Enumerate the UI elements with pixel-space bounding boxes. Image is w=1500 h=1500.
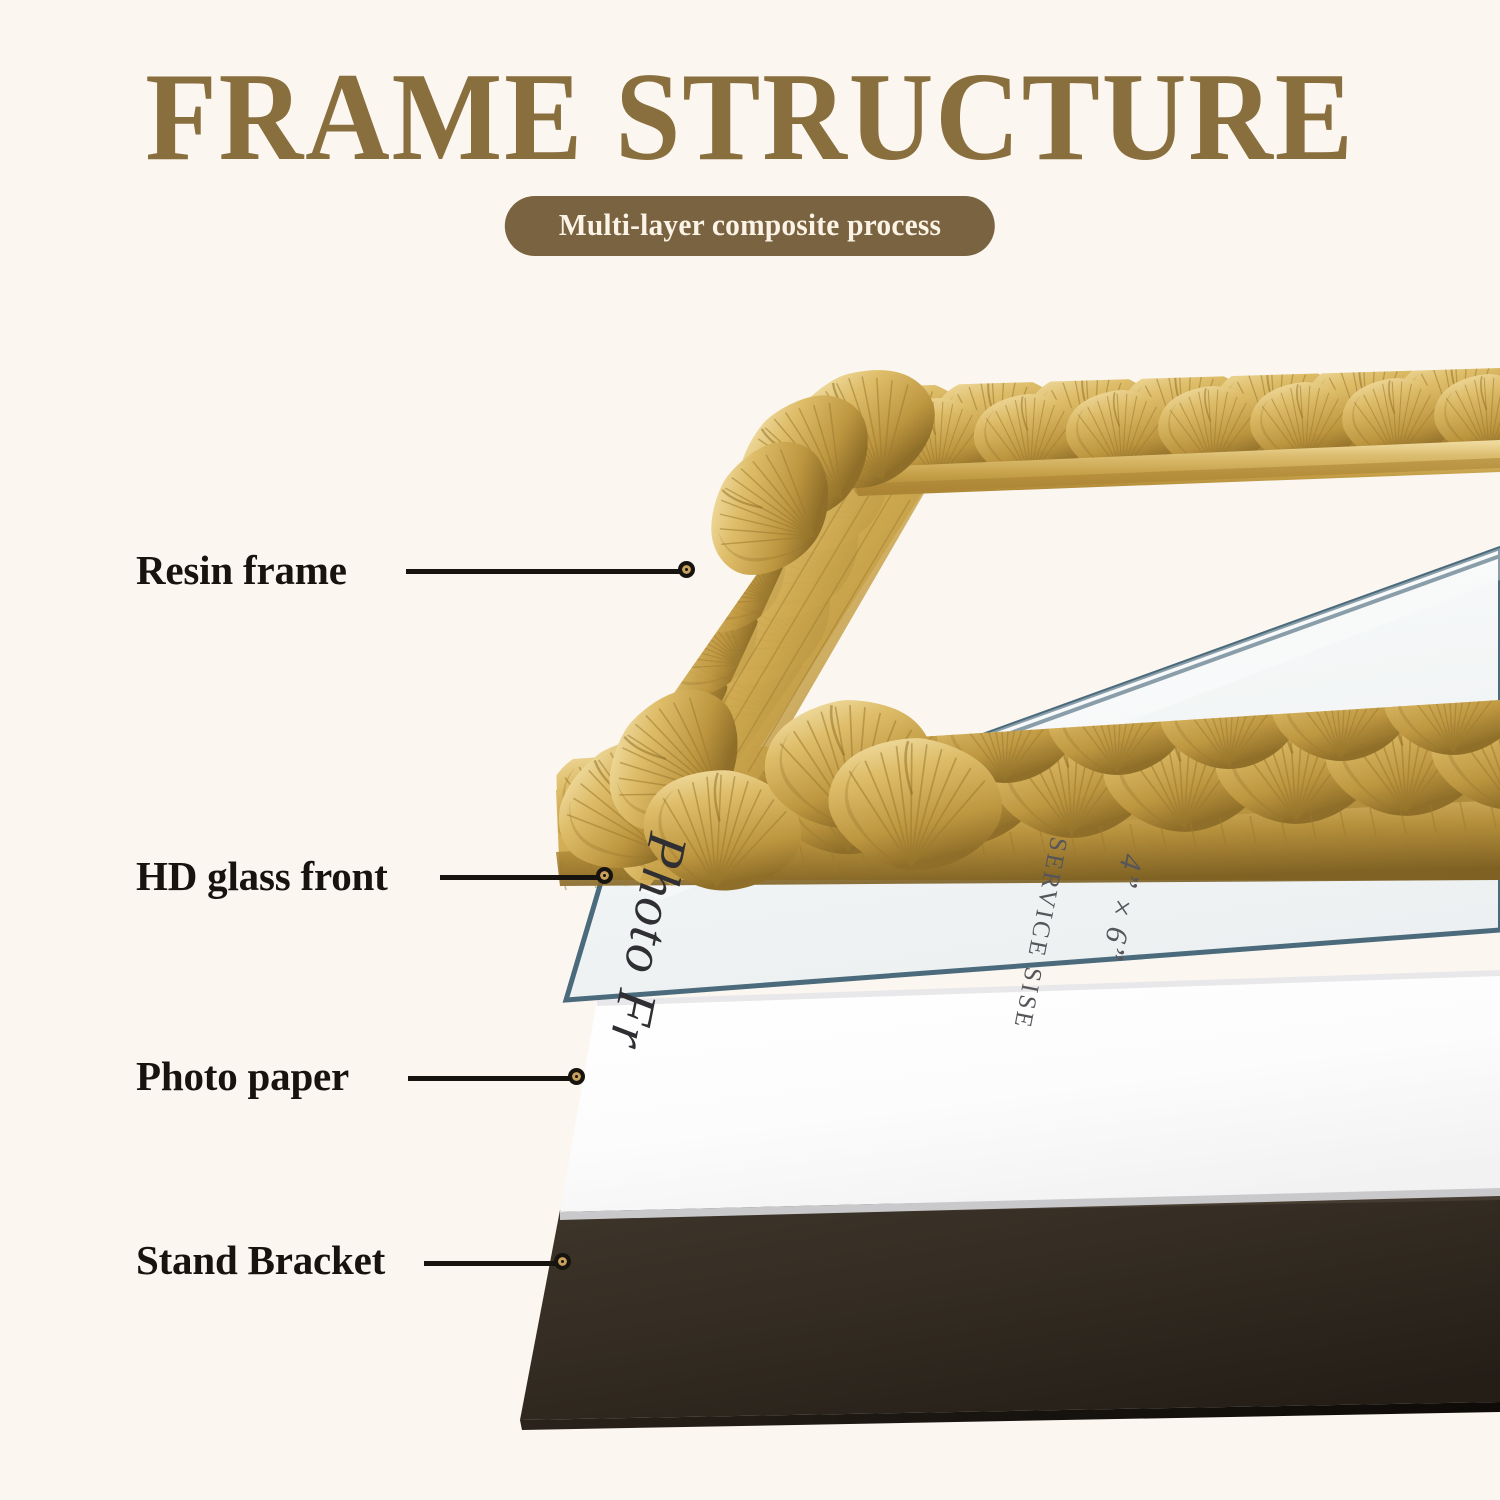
- page-title: FRAME STRUCTURE: [53, 62, 1448, 174]
- layer-resin-frame: [534, 337, 1500, 912]
- callout-label-photo-paper: Photo paper: [136, 1053, 349, 1099]
- callout-label-stand-bracket: Stand Bracket: [136, 1237, 385, 1283]
- callout-label-resin-frame: Resin frame: [136, 547, 347, 593]
- callout-label-hd-glass: HD glass front: [136, 853, 388, 899]
- callout-resin-frame: Resin frame: [136, 546, 347, 594]
- paper-brand-text: Photo Fr: [595, 828, 700, 1056]
- leader-line-hd-glass: [440, 875, 605, 880]
- subtitle-pill-label: Multi-layer composite process: [559, 207, 941, 243]
- leader-dot-hd-glass: [596, 867, 613, 884]
- paper-service-text: SERVICE SISE: [1007, 835, 1072, 1033]
- callout-hd-glass: HD glass front: [136, 852, 388, 900]
- leader-line-resin-frame: [406, 569, 688, 574]
- frame-corner-cluster: [687, 348, 954, 599]
- leader-dot-stand-bracket: [554, 1253, 571, 1270]
- layer-photo-paper: [560, 970, 1500, 1220]
- paper-size-text: 4” × 6”: [1094, 851, 1150, 965]
- frame-corner-cluster-bottom: [534, 665, 1006, 899]
- frame-top-rail: [835, 354, 1500, 496]
- leader-dot-photo-paper: [568, 1068, 585, 1085]
- frame-left-rail: [568, 337, 948, 912]
- leader-line-photo-paper: [408, 1076, 578, 1081]
- callout-photo-paper: Photo paper: [136, 1052, 349, 1100]
- callout-stand-bracket: Stand Bracket: [136, 1236, 385, 1284]
- frame-bottom-rail: [547, 650, 1500, 890]
- layer-hd-glass: [566, 548, 1500, 1000]
- leader-line-stand-bracket: [424, 1261, 564, 1266]
- infographic-canvas: FRAME STRUCTURE Multi-layer composite pr…: [0, 0, 1500, 1500]
- subtitle-pill: Multi-layer composite process: [505, 196, 995, 256]
- header: FRAME STRUCTURE Multi-layer composite pr…: [0, 0, 1500, 270]
- leader-dot-resin-frame: [678, 561, 695, 578]
- layer-stand-bracket: [520, 1192, 1500, 1430]
